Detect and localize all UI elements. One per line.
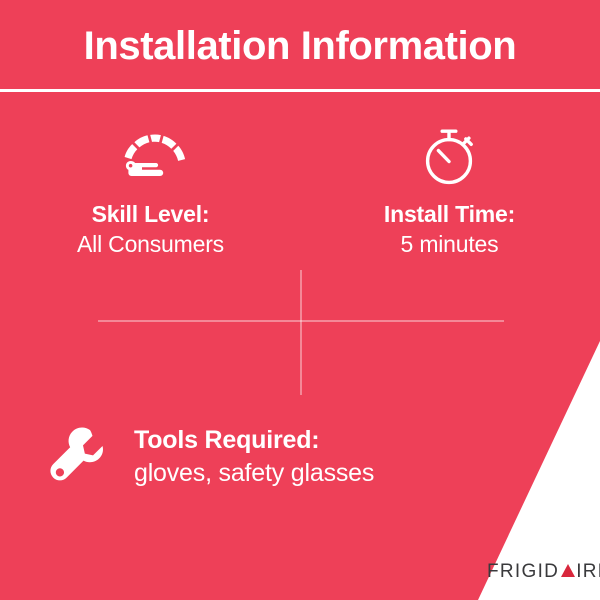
tools-required-row: Tools Required: gloves, safety glasses — [42, 424, 522, 490]
triangle-a-icon — [561, 564, 575, 577]
brand-name-prefix: FRIGID — [487, 562, 559, 582]
tools-required-label: Tools Required: — [134, 424, 374, 457]
header: Installation Information — [0, 0, 600, 92]
stat-install-time: Install Time: 5 minutes — [307, 125, 592, 285]
skill-level-label: Skill Level: — [8, 199, 293, 229]
stopwatch-icon-wrapper — [307, 125, 592, 187]
skill-gauge-icon-wrapper — [8, 125, 293, 187]
section-divider — [98, 320, 504, 322]
install-time-label: Install Time: — [307, 199, 592, 229]
page-title: Installation Information — [0, 23, 600, 69]
tools-text-block: Tools Required: gloves, safety glasses — [134, 424, 374, 490]
wrench-icon — [47, 426, 109, 488]
skill-level-value: All Consumers — [8, 229, 293, 259]
install-time-value: 5 minutes — [307, 229, 592, 259]
tools-required-value: gloves, safety glasses — [134, 457, 374, 490]
stats-row: Skill Level: All Consumers — [0, 125, 600, 285]
stopwatch-icon — [420, 125, 480, 187]
column-divider — [300, 270, 302, 395]
skill-gauge-icon — [112, 131, 190, 181]
header-divider — [0, 89, 600, 92]
frigidaire-logo: FRIGID IRE — [487, 562, 600, 582]
wrench-icon-wrapper — [42, 426, 114, 488]
brand-name-suffix: IRE — [576, 562, 600, 582]
stat-skill-level: Skill Level: All Consumers — [8, 125, 293, 285]
installation-information-card: Installation Information — [0, 0, 600, 600]
